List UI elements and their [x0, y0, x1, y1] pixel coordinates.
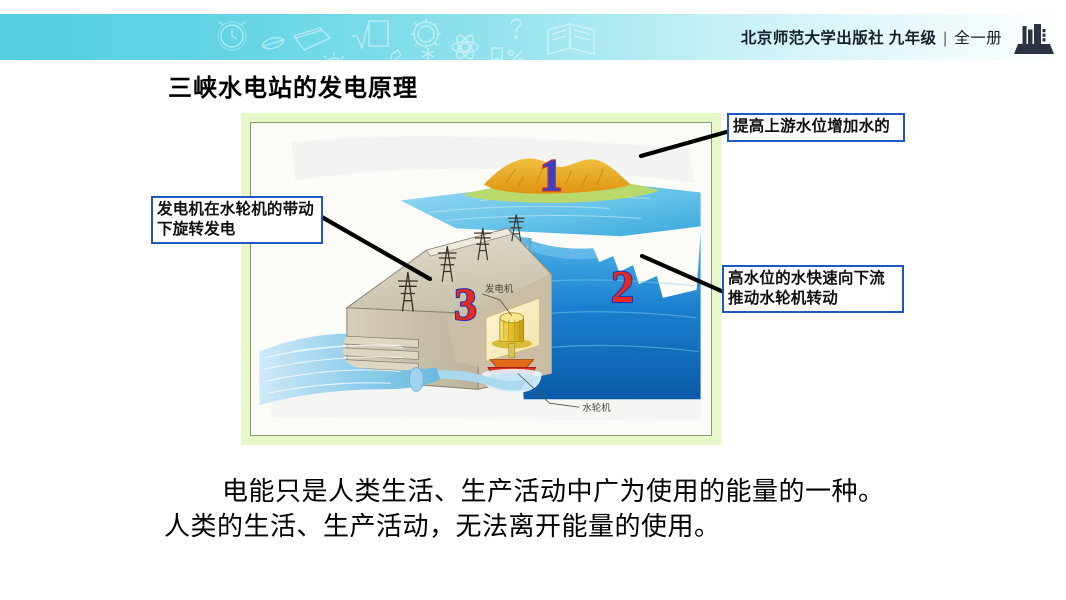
leader-line-1	[641, 131, 730, 156]
leader-line-2	[642, 256, 726, 293]
callout-box-1: 提高上游水位增加水的	[727, 113, 905, 142]
leader-line-3	[320, 216, 430, 279]
body-paragraph: 电能只是人类生活、生产活动中广为使用的能量的一种。人类的生活、生产活动，无法离开…	[164, 474, 904, 543]
callout-box-2: 高水位的水快速向下流推动水轮机转动	[722, 265, 904, 313]
slide-canvas: 北京师范大学出版社 九年级 | 全一册 三峡水电站的发电原理	[0, 0, 1066, 600]
callout-box-3: 发电机在水轮机的带动下旋转发电	[151, 196, 323, 244]
